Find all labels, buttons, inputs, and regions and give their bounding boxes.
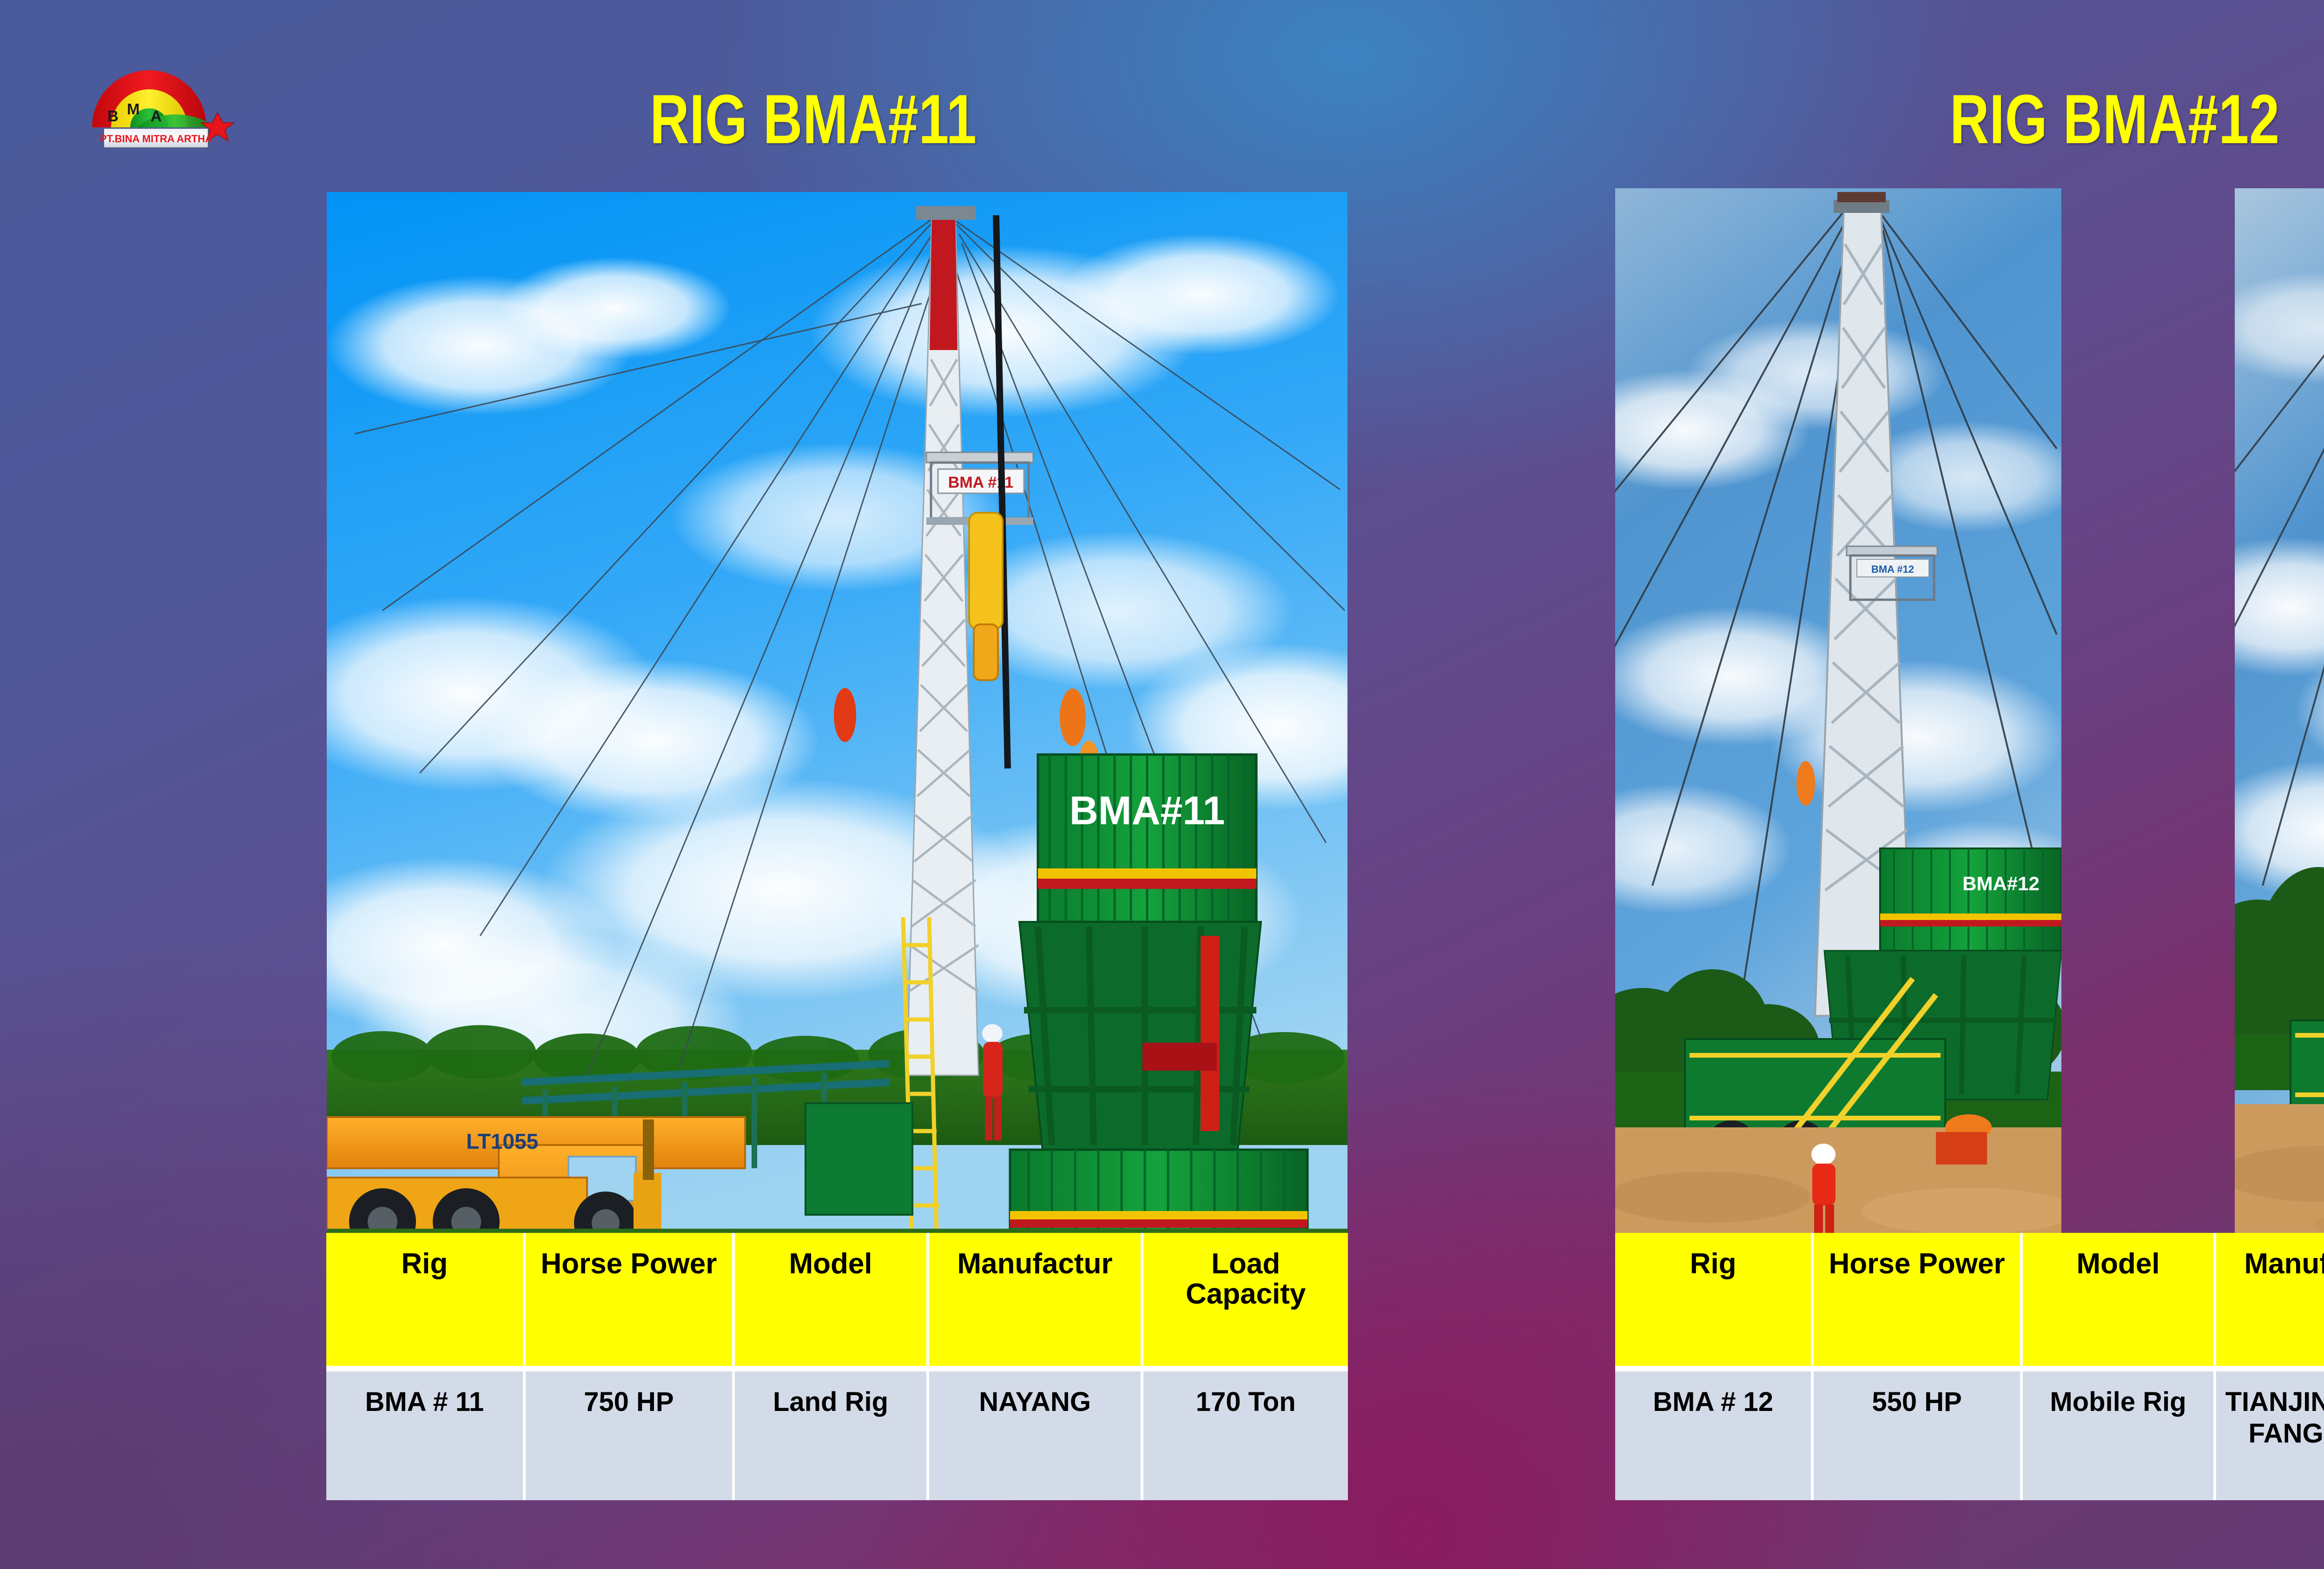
company-logo: B M A PT.BINA MITRA ARTHA	[82, 34, 310, 155]
logo-letter-b: B	[107, 107, 119, 125]
table-row: BMA # 11 750 HP Land Rig NAYANG 170 Ton	[326, 1366, 1348, 1500]
cell-horse-power: 550 HP	[1814, 1366, 2022, 1500]
header-manufactur: Manufactur	[2216, 1233, 2324, 1366]
container-a: BMA#12	[1880, 848, 2061, 951]
photo-rig-bma-12-a: BMA #12 BMA#12	[1615, 188, 2061, 1233]
crane-model-label: LT1055	[466, 1129, 538, 1153]
header-horse-power: Horse Power	[526, 1233, 735, 1366]
slide-canvas: B M A PT.BINA MITRA ARTHA RIG BMA#11 RIG…	[0, 0, 2324, 1569]
table-header-row: Rig Horse Power Model Manufactur Load Ca…	[1615, 1233, 2324, 1366]
header-manufactur: Manufactur	[929, 1233, 1144, 1366]
logo-letter-m: M	[127, 100, 140, 118]
logo-company-name: PT.BINA MITRA ARTHA	[100, 133, 212, 145]
cell-rig: BMA # 11	[326, 1366, 526, 1500]
photo-rig-bma-11: BMA #11	[327, 192, 1347, 1233]
cell-manufactur: TIANJIN DONG FANG XIAN	[2216, 1366, 2324, 1500]
logo-letter-a: A	[151, 107, 162, 125]
cell-horse-power: 750 HP	[526, 1366, 735, 1500]
header-model: Model	[735, 1233, 929, 1366]
container-label-upper: BMA#11	[1070, 788, 1225, 833]
header-model: Model	[2023, 1233, 2216, 1366]
title-rig-bma-12: RIG BMA#12	[1807, 79, 2324, 159]
photo-rig-bma-12-b: BMA #12 BMA#12	[2235, 188, 2324, 1233]
header-horse-power: Horse Power	[1814, 1233, 2022, 1366]
table-row: BMA # 12 550 HP Mobile Rig TIANJIN DONG …	[1615, 1366, 2324, 1500]
header-rig: Rig	[1615, 1233, 1814, 1366]
cell-model: Land Rig	[735, 1366, 929, 1500]
cell-manufactur: NAYANG	[929, 1366, 1144, 1500]
rig-table-bma-11: Rig Horse Power Model Manufactur Load Ca…	[326, 1233, 1348, 1500]
monkeyboard-sign-a: BMA #12	[1871, 563, 1914, 575]
title-rig-bma-11: RIG BMA#11	[505, 79, 1122, 159]
rig-table-bma-12: Rig Horse Power Model Manufactur Load Ca…	[1615, 1233, 2324, 1500]
container-upper: BMA#11	[1038, 755, 1256, 922]
cell-model: Mobile Rig	[2023, 1366, 2216, 1500]
cell-rig: BMA # 12	[1615, 1366, 1814, 1500]
header-load-capacity: Load Capacity	[1143, 1233, 1348, 1366]
header-rig: Rig	[326, 1233, 526, 1366]
table-header-row: Rig Horse Power Model Manufactur Load Ca…	[326, 1233, 1348, 1366]
cell-load-capacity: 170 Ton	[1143, 1366, 1348, 1500]
container-label-a: BMA#12	[1962, 873, 2040, 894]
